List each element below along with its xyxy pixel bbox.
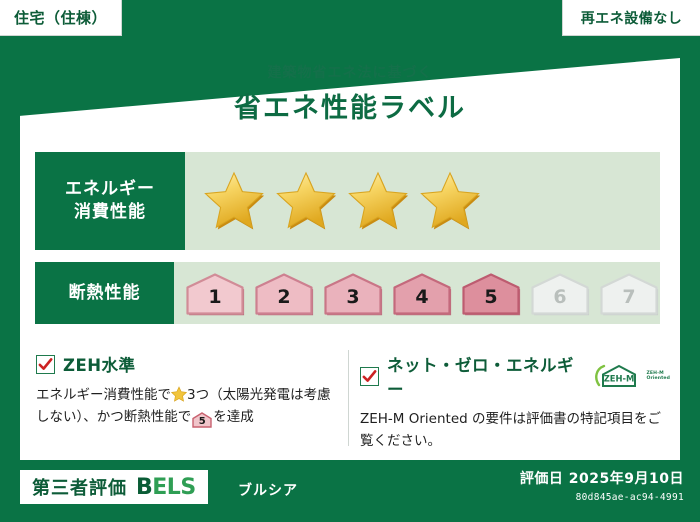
label-footer: 第三者評価 BELS ブルシア 評価日 2025年9月10日 80d845ae-… <box>0 460 700 522</box>
net-zero-title: ネット・ゼロ・エネルギー <box>387 352 586 400</box>
tab-renewable-equipment[interactable]: 再エネ設備なし <box>562 0 700 36</box>
zeh-m-logo: ZEH-M ZEH-M Oriented <box>594 363 670 389</box>
bels-logo-els: ELS <box>152 475 195 500</box>
bels-certification-badge: 第三者評価 BELS <box>20 470 208 504</box>
energy-key-line1: エネルギー <box>65 178 155 201</box>
insulation-level-badge[interactable]: 6 <box>529 270 591 316</box>
insulation-level-badge[interactable]: 4 <box>391 270 453 316</box>
brand-name: ブルシア <box>238 480 298 500</box>
insulation-level-value: 5 <box>484 288 497 316</box>
insulation-level-value: 3 <box>346 288 359 316</box>
energy-key-line2: 消費性能 <box>74 201 146 224</box>
insulation-level-badge[interactable]: 1 <box>184 270 246 316</box>
evaluation-date: 評価日 2025年9月10日 <box>520 468 684 488</box>
zeh-standard-block: ZEH水準 エネルギー消費性能で3つ（太陽光発電は考慮しない）、かつ断熱性能で5… <box>36 352 336 429</box>
net-zero-energy-block: ネット・ゼロ・エネルギー ZEH-M ZEH-M Oriented ZEH-M … <box>360 352 670 453</box>
insulation-level-badge[interactable]: 7 <box>598 270 660 316</box>
star-rating <box>203 170 481 232</box>
tab-building-type-label: 住宅（住棟） <box>14 7 107 28</box>
net-zero-title-row: ネット・ゼロ・エネルギー ZEH-M ZEH-M Oriented <box>360 352 670 400</box>
insulation-level-scale: 1234567 <box>184 270 660 316</box>
check-icon <box>360 367 379 386</box>
zeh-description: エネルギー消費性能で3つ（太陽光発電は考慮しない）、かつ断熱性能で5を達成 <box>36 384 336 429</box>
check-icon <box>36 355 55 374</box>
energy-performance-value <box>185 152 660 250</box>
evaluation-date-label: 評価日 <box>520 471 564 487</box>
evaluation-date-value: 2025年9月10日 <box>569 471 684 487</box>
tab-renewable-equipment-label: 再エネ設備なし <box>581 8 683 28</box>
zeh-m-logo-subtext: ZEH-M Oriented <box>646 371 670 382</box>
insulation-level-value: 2 <box>277 288 290 316</box>
insulation-level-badge[interactable]: 3 <box>322 270 384 316</box>
zeh-description-part1: エネルギー消費性能で <box>36 387 171 403</box>
insulation-level-value: 7 <box>622 288 635 316</box>
insulation-level-value: 1 <box>208 288 221 316</box>
energy-performance-key: エネルギー 消費性能 <box>35 152 185 250</box>
star-icon <box>275 170 337 232</box>
bels-logo-b: B <box>136 475 152 500</box>
insulation-level-value: 4 <box>415 288 428 316</box>
insulation-level-badge-inline-value: 5 <box>192 412 212 431</box>
energy-performance-row: エネルギー 消費性能 <box>35 152 660 250</box>
zeh-title: ZEH水準 <box>63 352 136 376</box>
insulation-level-badge-inline: 5 <box>192 412 212 428</box>
zeh-description-part3: を達成 <box>213 409 254 425</box>
evaluation-id: 80d845ae-ac94-4991 <box>520 492 684 503</box>
star-icon <box>419 170 481 232</box>
zeh-m-sub-line1: ZEH-M <box>646 371 663 376</box>
insulation-performance-row: 断熱性能 1234567 <box>35 262 660 324</box>
svg-text:ZEH-M: ZEH-M <box>604 374 635 384</box>
zeh-title-row: ZEH水準 <box>36 352 336 376</box>
evaluation-meta: 評価日 2025年9月10日 80d845ae-ac94-4991 <box>520 468 684 503</box>
energy-performance-label: 住宅（住棟） 再エネ設備なし 建築物省エネ法に基づく 省エネ性能ラベル エネルギ… <box>0 0 700 522</box>
insulation-key-label: 断熱性能 <box>69 282 141 305</box>
insulation-performance-value: 1234567 <box>174 262 660 324</box>
insulation-level-badge[interactable]: 5 <box>460 270 522 316</box>
net-zero-description: ZEH-M Oriented の要件は評価書の特記項目をご覧ください。 <box>360 408 670 453</box>
third-party-evaluation-label: 第三者評価 <box>32 474 127 500</box>
info-divider <box>348 350 349 446</box>
star-icon <box>171 386 187 402</box>
insulation-level-value: 6 <box>553 288 566 316</box>
zeh-m-sub-line2: Oriented <box>646 376 670 381</box>
star-icon <box>347 170 409 232</box>
insulation-performance-key: 断熱性能 <box>35 262 174 324</box>
tab-building-type[interactable]: 住宅（住棟） <box>0 0 122 36</box>
star-icon <box>203 170 265 232</box>
bels-logo: BELS <box>136 475 196 500</box>
insulation-level-badge[interactable]: 2 <box>253 270 315 316</box>
